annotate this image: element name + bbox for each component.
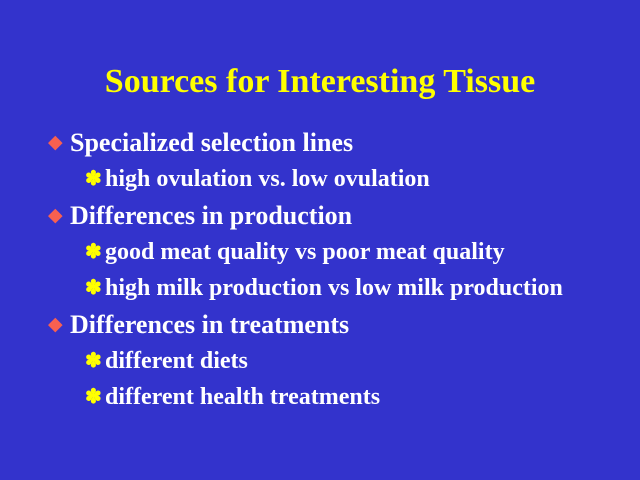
diamond-bullet-icon: ◆: [48, 197, 70, 234]
page-title: Sources for Interesting Tissue: [0, 62, 640, 102]
flower-bullet-icon: ✽: [85, 343, 105, 379]
list-item-label: Differences in production: [70, 197, 590, 234]
flower-bullet-icon: ✽: [85, 379, 105, 415]
list-item-label: Specialized selection lines: [70, 124, 590, 161]
diamond-bullet-icon: ◆: [48, 306, 70, 343]
diamond-bullet-icon: ◆: [48, 124, 70, 161]
list-item: ✽ different health treatments: [0, 379, 640, 415]
list-item: ✽ high ovulation vs. low ovulation: [0, 161, 640, 197]
flower-bullet-icon: ✽: [85, 234, 105, 270]
list-item-label: high ovulation vs. low ovulation: [105, 161, 605, 197]
list-item: ✽ high milk production vs low milk produ…: [0, 270, 640, 306]
list-item-label: Differences in treatments: [70, 306, 590, 343]
flower-bullet-icon: ✽: [85, 270, 105, 306]
list-item-label: different health treatments: [105, 379, 605, 415]
list-item-label: different diets: [105, 343, 605, 379]
list-item-label: good meat quality vs poor meat quality: [105, 234, 605, 270]
flower-bullet-icon: ✽: [85, 161, 105, 197]
list-item: ✽ different diets: [0, 343, 640, 379]
list-item-label: high milk production vs low milk product…: [105, 270, 605, 306]
list-item: ✽ good meat quality vs poor meat quality: [0, 234, 640, 270]
list-item: ◆ Differences in production: [0, 197, 640, 234]
presentation-slide: Sources for Interesting Tissue ◆ Special…: [0, 0, 640, 480]
slide-body-bullet-list: ◆ Specialized selection lines ✽ high ovu…: [0, 124, 640, 415]
list-item: ◆ Specialized selection lines: [0, 124, 640, 161]
list-item: ◆ Differences in treatments: [0, 306, 640, 343]
